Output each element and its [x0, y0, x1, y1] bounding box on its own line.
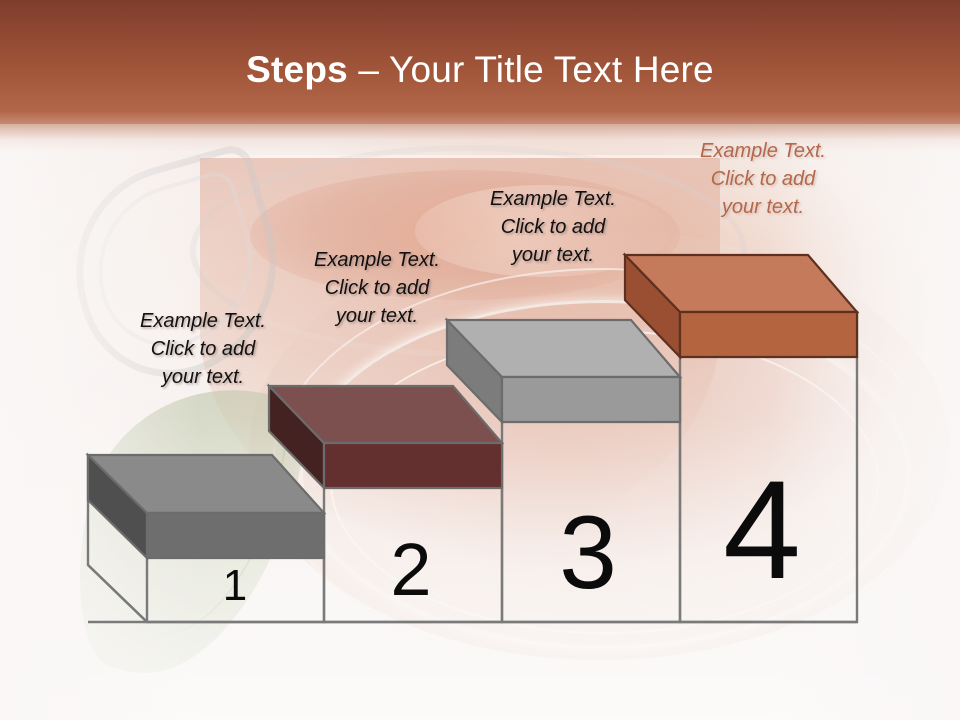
step-block-2[interactable]	[269, 386, 502, 488]
step-callout-4[interactable]: Example Text. Click to add your text.	[648, 137, 878, 221]
step-block-2-front	[324, 443, 502, 488]
step-number-3: 3	[559, 495, 617, 611]
step-block-4[interactable]	[625, 255, 857, 357]
step-number-1: 1	[223, 561, 247, 610]
step-block-1-front	[147, 513, 324, 558]
step-block-3-front	[502, 377, 680, 422]
step-number-4: 4	[723, 451, 801, 608]
step-block-4-front	[680, 312, 857, 357]
step-callout-3[interactable]: Example Text. Click to add your text.	[438, 185, 668, 269]
step-block-1[interactable]	[88, 455, 324, 558]
step-number-2: 2	[390, 528, 431, 611]
step-block-3[interactable]	[447, 320, 680, 422]
slide-canvas: Steps – Your Title Text Here	[0, 0, 960, 720]
